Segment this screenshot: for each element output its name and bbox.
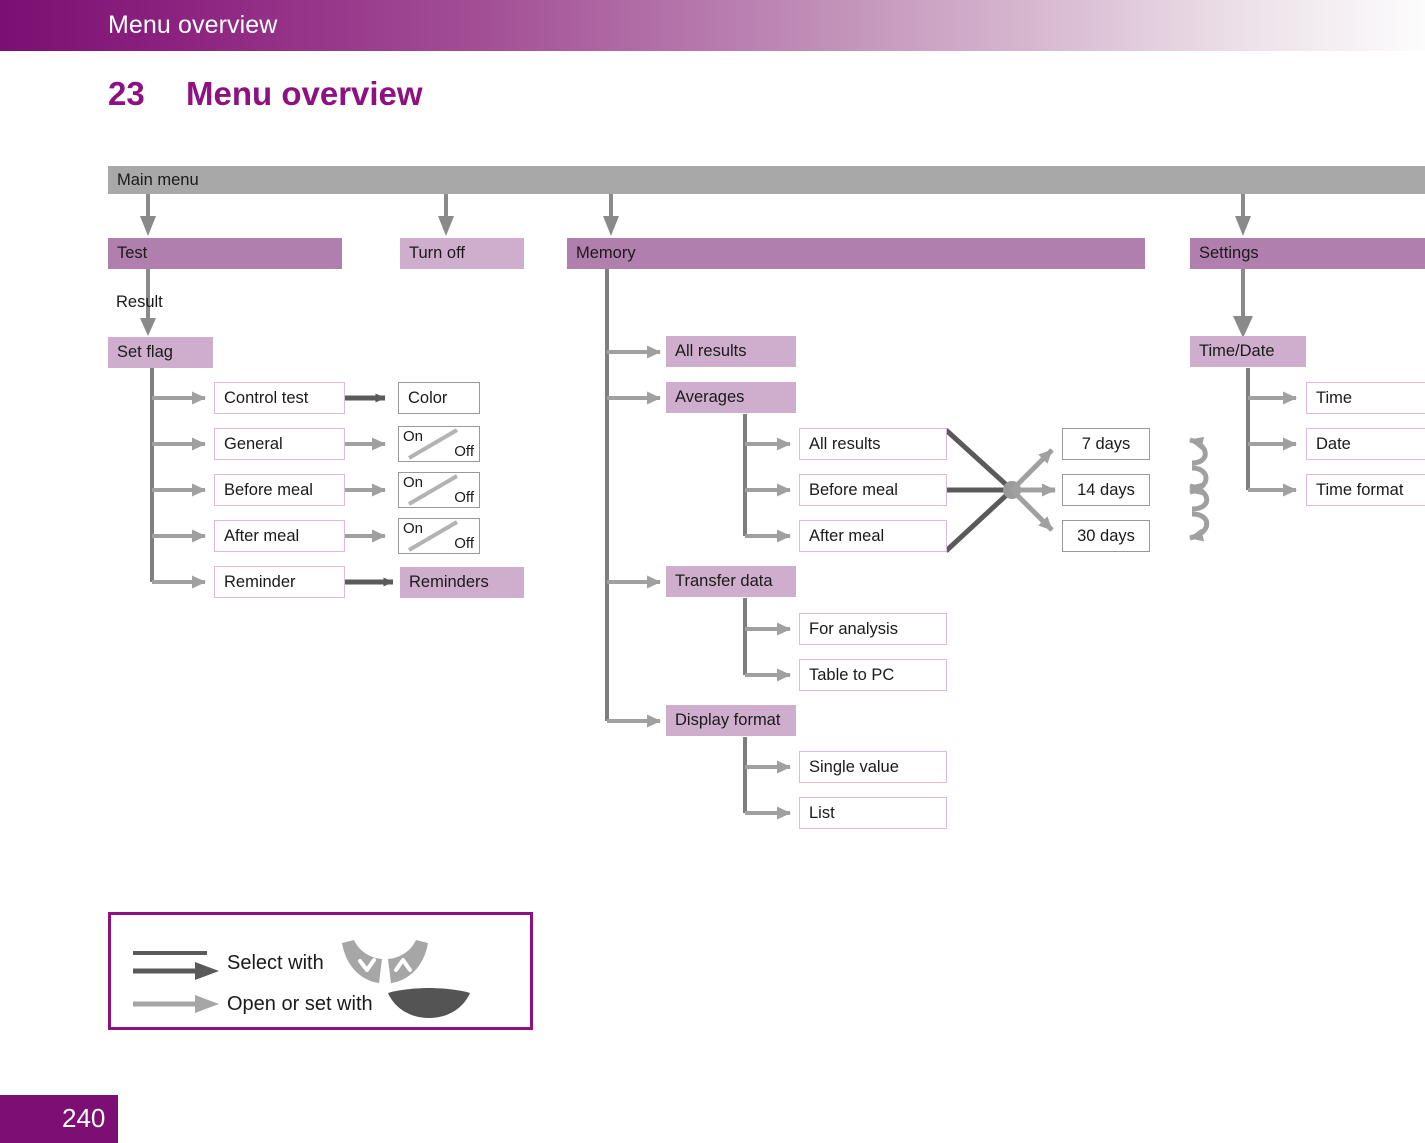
node-memory-transfer-data[interactable]: Transfer data: [666, 566, 796, 597]
page-number: 240: [62, 1103, 105, 1134]
node-list[interactable]: List: [799, 797, 947, 829]
node-time-date[interactable]: Time/Date: [1190, 336, 1306, 367]
node-label: Test: [117, 245, 147, 262]
node-settings[interactable]: Settings: [1190, 238, 1425, 269]
node-label: 14 days: [1077, 482, 1135, 499]
node-single-value[interactable]: Single value: [799, 751, 947, 783]
node-label: All results: [809, 436, 881, 453]
legend-box: Select with Open or set with: [108, 912, 533, 1030]
toggle-off-label: Off: [454, 535, 474, 552]
node-label: For analysis: [809, 621, 898, 638]
node-reminders[interactable]: Reminders: [400, 567, 524, 598]
node-label: After meal: [809, 528, 884, 545]
node-memory-averages[interactable]: Averages: [666, 382, 796, 413]
node-general[interactable]: General: [214, 428, 345, 460]
node-averages-before-meal[interactable]: Before meal: [799, 474, 947, 506]
node-label: Table to PC: [809, 667, 894, 684]
node-label: List: [809, 805, 835, 822]
node-label: Reminders: [409, 574, 489, 591]
node-label: Main menu: [117, 172, 199, 189]
node-main-menu[interactable]: Main menu: [108, 166, 1425, 194]
toggle-off-label: Off: [454, 489, 474, 506]
node-for-analysis[interactable]: For analysis: [799, 613, 947, 645]
edge-label-result: Result: [116, 293, 163, 312]
node-label: Reminder: [224, 574, 296, 591]
node-date[interactable]: Date: [1306, 428, 1425, 460]
node-label: Before meal: [809, 482, 898, 499]
node-label: After meal: [224, 528, 299, 545]
node-reminder[interactable]: Reminder: [214, 566, 345, 598]
node-label: Transfer data: [675, 573, 773, 590]
node-label: Settings: [1199, 245, 1259, 262]
node-memory-all-results[interactable]: All results: [666, 336, 796, 367]
legend-row-select: Select with: [129, 937, 434, 989]
node-label: Set flag: [117, 344, 173, 361]
node-label: Memory: [576, 245, 636, 262]
node-label: Time/Date: [1199, 343, 1275, 360]
legend-label-open-set: Open or set with: [227, 993, 373, 1016]
node-before-meal[interactable]: Before meal: [214, 474, 345, 506]
toggle-after-meal-on-off[interactable]: On Off: [398, 518, 480, 554]
node-color[interactable]: Color: [398, 382, 480, 414]
node-label: Time format: [1316, 482, 1403, 499]
set-button-icon: [385, 987, 473, 1021]
toggle-on-label: On: [403, 474, 423, 491]
node-label: Turn off: [409, 245, 465, 262]
light-arrow-icon: [129, 991, 219, 1017]
node-table-to-pc[interactable]: Table to PC: [799, 659, 947, 691]
toggle-off-label: Off: [454, 443, 474, 460]
node-label: Single value: [809, 759, 899, 776]
node-label: Control test: [224, 390, 308, 407]
up-down-rocker-buttons-icon: [336, 937, 434, 989]
legend-label-select: Select with: [227, 952, 324, 975]
node-period-14-days[interactable]: 14 days: [1062, 474, 1150, 506]
node-label: Before meal: [224, 482, 313, 499]
node-set-flag[interactable]: Set flag: [108, 337, 213, 368]
dark-arrow-icon: [129, 943, 219, 983]
node-test[interactable]: Test: [108, 238, 342, 269]
node-label: Date: [1316, 436, 1351, 453]
node-time[interactable]: Time: [1306, 382, 1425, 414]
toggle-on-label: On: [403, 428, 423, 445]
node-label: Time: [1316, 390, 1352, 407]
node-time-format[interactable]: Time format: [1306, 474, 1425, 506]
node-turn-off[interactable]: Turn off: [400, 238, 524, 269]
toggle-before-meal-on-off[interactable]: On Off: [398, 472, 480, 508]
node-label: 7 days: [1082, 436, 1131, 453]
node-memory-display-format[interactable]: Display format: [666, 705, 796, 736]
node-period-7-days[interactable]: 7 days: [1062, 428, 1150, 460]
node-label: Color: [408, 390, 447, 407]
legend-row-open-set: Open or set with: [129, 987, 473, 1021]
node-averages-after-meal[interactable]: After meal: [799, 520, 947, 552]
node-label: All results: [675, 343, 747, 360]
node-label: 30 days: [1077, 528, 1135, 545]
node-label: General: [224, 436, 283, 453]
node-averages-all-results[interactable]: All results: [799, 428, 947, 460]
node-period-30-days[interactable]: 30 days: [1062, 520, 1150, 552]
toggle-general-on-off[interactable]: On Off: [398, 426, 480, 462]
toggle-on-label: On: [403, 520, 423, 537]
node-memory[interactable]: Memory: [567, 238, 1145, 269]
node-label: Averages: [675, 389, 744, 406]
node-label: Display format: [675, 712, 780, 729]
node-after-meal[interactable]: After meal: [214, 520, 345, 552]
node-control-test[interactable]: Control test: [214, 382, 345, 414]
